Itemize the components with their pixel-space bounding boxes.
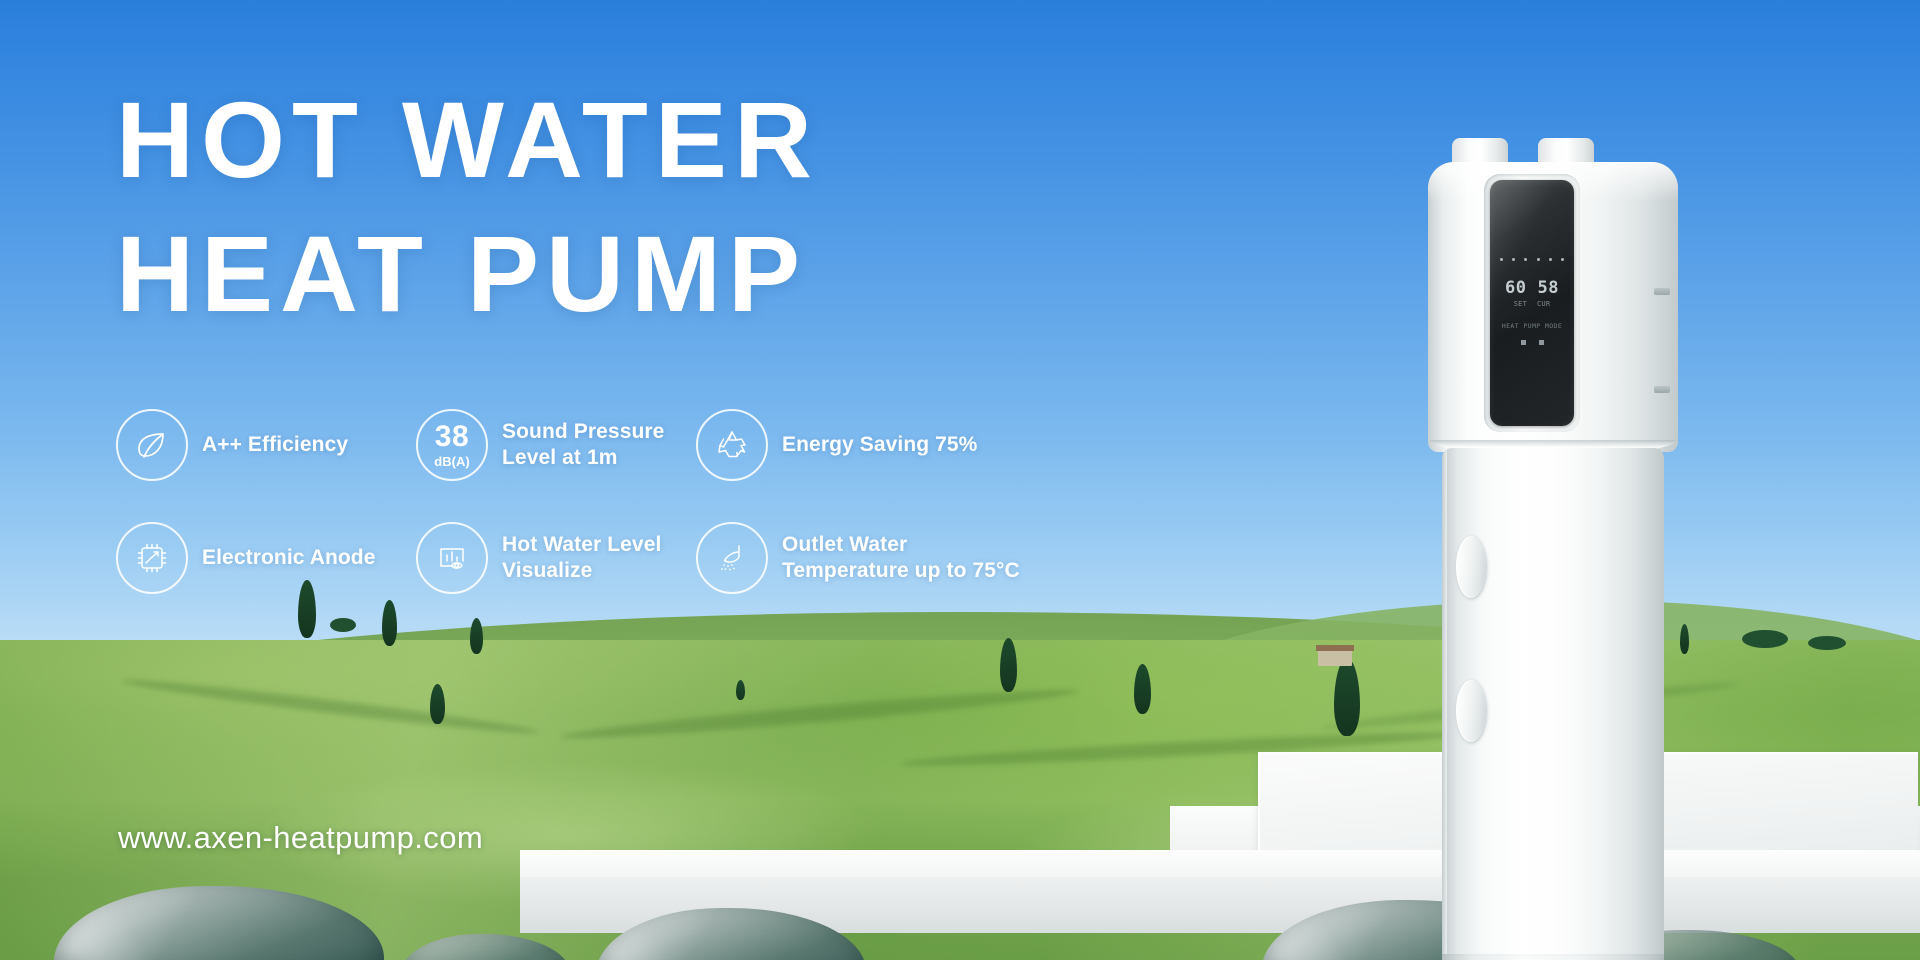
feature-item-electronic-anode: Electronic Anode: [116, 501, 416, 614]
headline-line-1: HOT WATER: [116, 79, 819, 200]
banner-stage: 60 58 SET CUR HEAT PUMP MODE HOT: [0, 0, 1920, 960]
feature-item-sound-pressure: 38 dB(A) Sound Pressure Level at 1m: [416, 388, 696, 501]
feature-label: Outlet Water Temperature up to 75°C: [782, 532, 1036, 584]
farmhouse-roof: [1316, 645, 1354, 651]
feature-item-water-level-visualize: Hot Water Level Visualize: [416, 501, 696, 614]
cypress-tree: [470, 618, 483, 654]
shower-head-icon: [696, 522, 768, 594]
tank-base: [1442, 954, 1664, 960]
platform-top-surface: [520, 850, 1920, 880]
website-url[interactable]: www.axen-heatpump.com: [118, 820, 483, 856]
feature-item-outlet-temperature: Outlet Water Temperature up to 75°C: [696, 501, 1036, 614]
feature-list: A++ Efficiency 38 dB(A) Sound Pressure L…: [116, 388, 1036, 614]
shrub: [1742, 630, 1788, 648]
feature-label: Sound Pressure Level at 1m: [502, 419, 696, 471]
sound-level-value-group: 38 dB(A): [434, 422, 469, 468]
feature-item-efficiency: A++ Efficiency: [116, 388, 416, 501]
feature-label: Energy Saving 75%: [782, 432, 977, 458]
control-panel[interactable]: 60 58 SET CUR HEAT PUMP MODE: [1490, 180, 1574, 426]
panel-glass-glare: [1490, 180, 1574, 426]
headline-line-2: HEAT PUMP: [116, 220, 819, 328]
access-port-upper: [1456, 536, 1486, 598]
display-eye-icon: [416, 522, 488, 594]
sound-level-unit: dB(A): [434, 455, 469, 468]
farmhouse: [1318, 650, 1352, 666]
feature-label: Hot Water Level Visualize: [502, 532, 696, 584]
product-heat-pump: 60 58 SET CUR HEAT PUMP MODE: [1428, 138, 1678, 898]
page-title: HOT WATER HEAT PUMP: [116, 86, 819, 328]
sound-level-badge: 38 dB(A): [416, 409, 488, 481]
feature-label: Electronic Anode: [202, 545, 376, 571]
cypress-tree: [736, 680, 745, 700]
shrub: [1808, 636, 1846, 650]
feature-label: A++ Efficiency: [202, 432, 348, 458]
access-port-lower: [1456, 680, 1486, 742]
side-vent-upper: [1654, 288, 1670, 295]
tank-edge-highlight: [1442, 448, 1447, 960]
recycle-icon: [696, 409, 768, 481]
cypress-tree: [1680, 624, 1689, 654]
shrub: [330, 618, 356, 632]
side-vent-lower: [1654, 386, 1670, 393]
feature-item-energy-saving: Energy Saving 75%: [696, 388, 1036, 501]
leaf-icon: [116, 409, 188, 481]
sound-level-value: 38: [434, 422, 469, 452]
chip-icon: [116, 522, 188, 594]
